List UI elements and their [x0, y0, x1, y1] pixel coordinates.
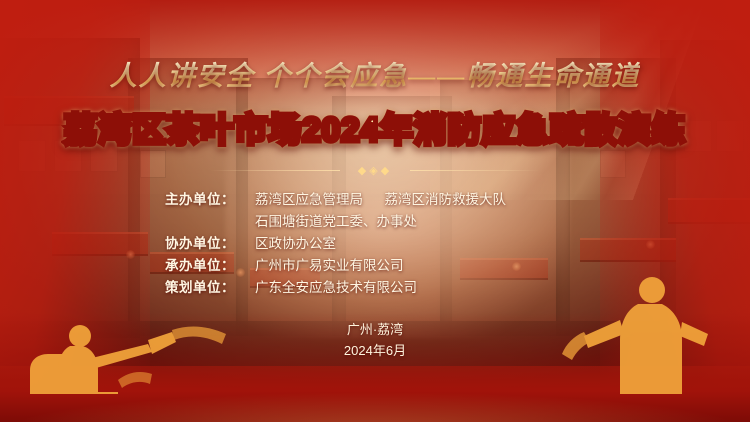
poster-slogan: 人人讲安全 个个会应急——畅通生命通道 — [110, 54, 641, 93]
footer-block: 广州·荔湾 2024年6月 — [344, 319, 406, 361]
divider-line-left — [210, 170, 340, 171]
divider-line-right — [410, 170, 540, 171]
poster-main-title: 荔湾区茶叶市场2024年消防应急疏散演练 荔湾区茶叶市场2024年消防应急疏散演… — [64, 103, 685, 151]
organizer-label: 协办单位： — [165, 233, 247, 255]
organizer-label: 主办单位： — [165, 189, 247, 211]
organizer-value-primary: 荔湾区应急管理局 — [255, 192, 363, 207]
organizer-list: 主办单位： 荔湾区应急管理局 荔湾区消防救援大队 主办单位： 石围塘街道党工委、… — [165, 189, 585, 299]
organizer-label: 承办单位： — [165, 255, 247, 277]
ornament-divider: ◆◈◆ — [210, 165, 540, 177]
organizer-row: 协办单位： 区政协办公室 — [165, 233, 585, 255]
poster-canvas: 人人讲安全 个个会应急——畅通生命通道 荔湾区茶叶市场2024年消防应急疏散演练… — [0, 0, 750, 422]
organizer-row: 策划单位： 广东全安应急技术有限公司 — [165, 277, 585, 299]
divider-diamond-ornament: ◆◈◆ — [358, 165, 392, 177]
organizer-value: 荔湾区应急管理局 荔湾区消防救援大队 — [255, 189, 506, 211]
organizer-row: 承办单位： 广州市广易实业有限公司 — [165, 255, 585, 277]
organizer-value: 广东全安应急技术有限公司 — [255, 277, 417, 299]
footer-date: 2024年6月 — [344, 340, 406, 361]
organizer-row: 主办单位： 荔湾区应急管理局 荔湾区消防救援大队 — [165, 189, 585, 211]
organizer-label: 策划单位： — [165, 277, 247, 299]
organizer-value: 广州市广易实业有限公司 — [255, 255, 404, 277]
organizer-value-line2: 石围塘街道党工委、办事处 — [255, 211, 417, 233]
organizer-row-continued: 主办单位： 石围塘街道党工委、办事处 — [165, 211, 585, 233]
poster-text-content: 人人讲安全 个个会应急——畅通生命通道 荔湾区茶叶市场2024年消防应急疏散演练… — [0, 0, 750, 422]
footer-location: 广州·荔湾 — [344, 319, 406, 340]
organizer-value-secondary: 荔湾区消防救援大队 — [385, 192, 507, 207]
main-title-fill: 荔湾区茶叶市场2024年消防应急疏散演练 — [64, 111, 685, 148]
organizer-value: 区政协办公室 — [255, 233, 336, 255]
